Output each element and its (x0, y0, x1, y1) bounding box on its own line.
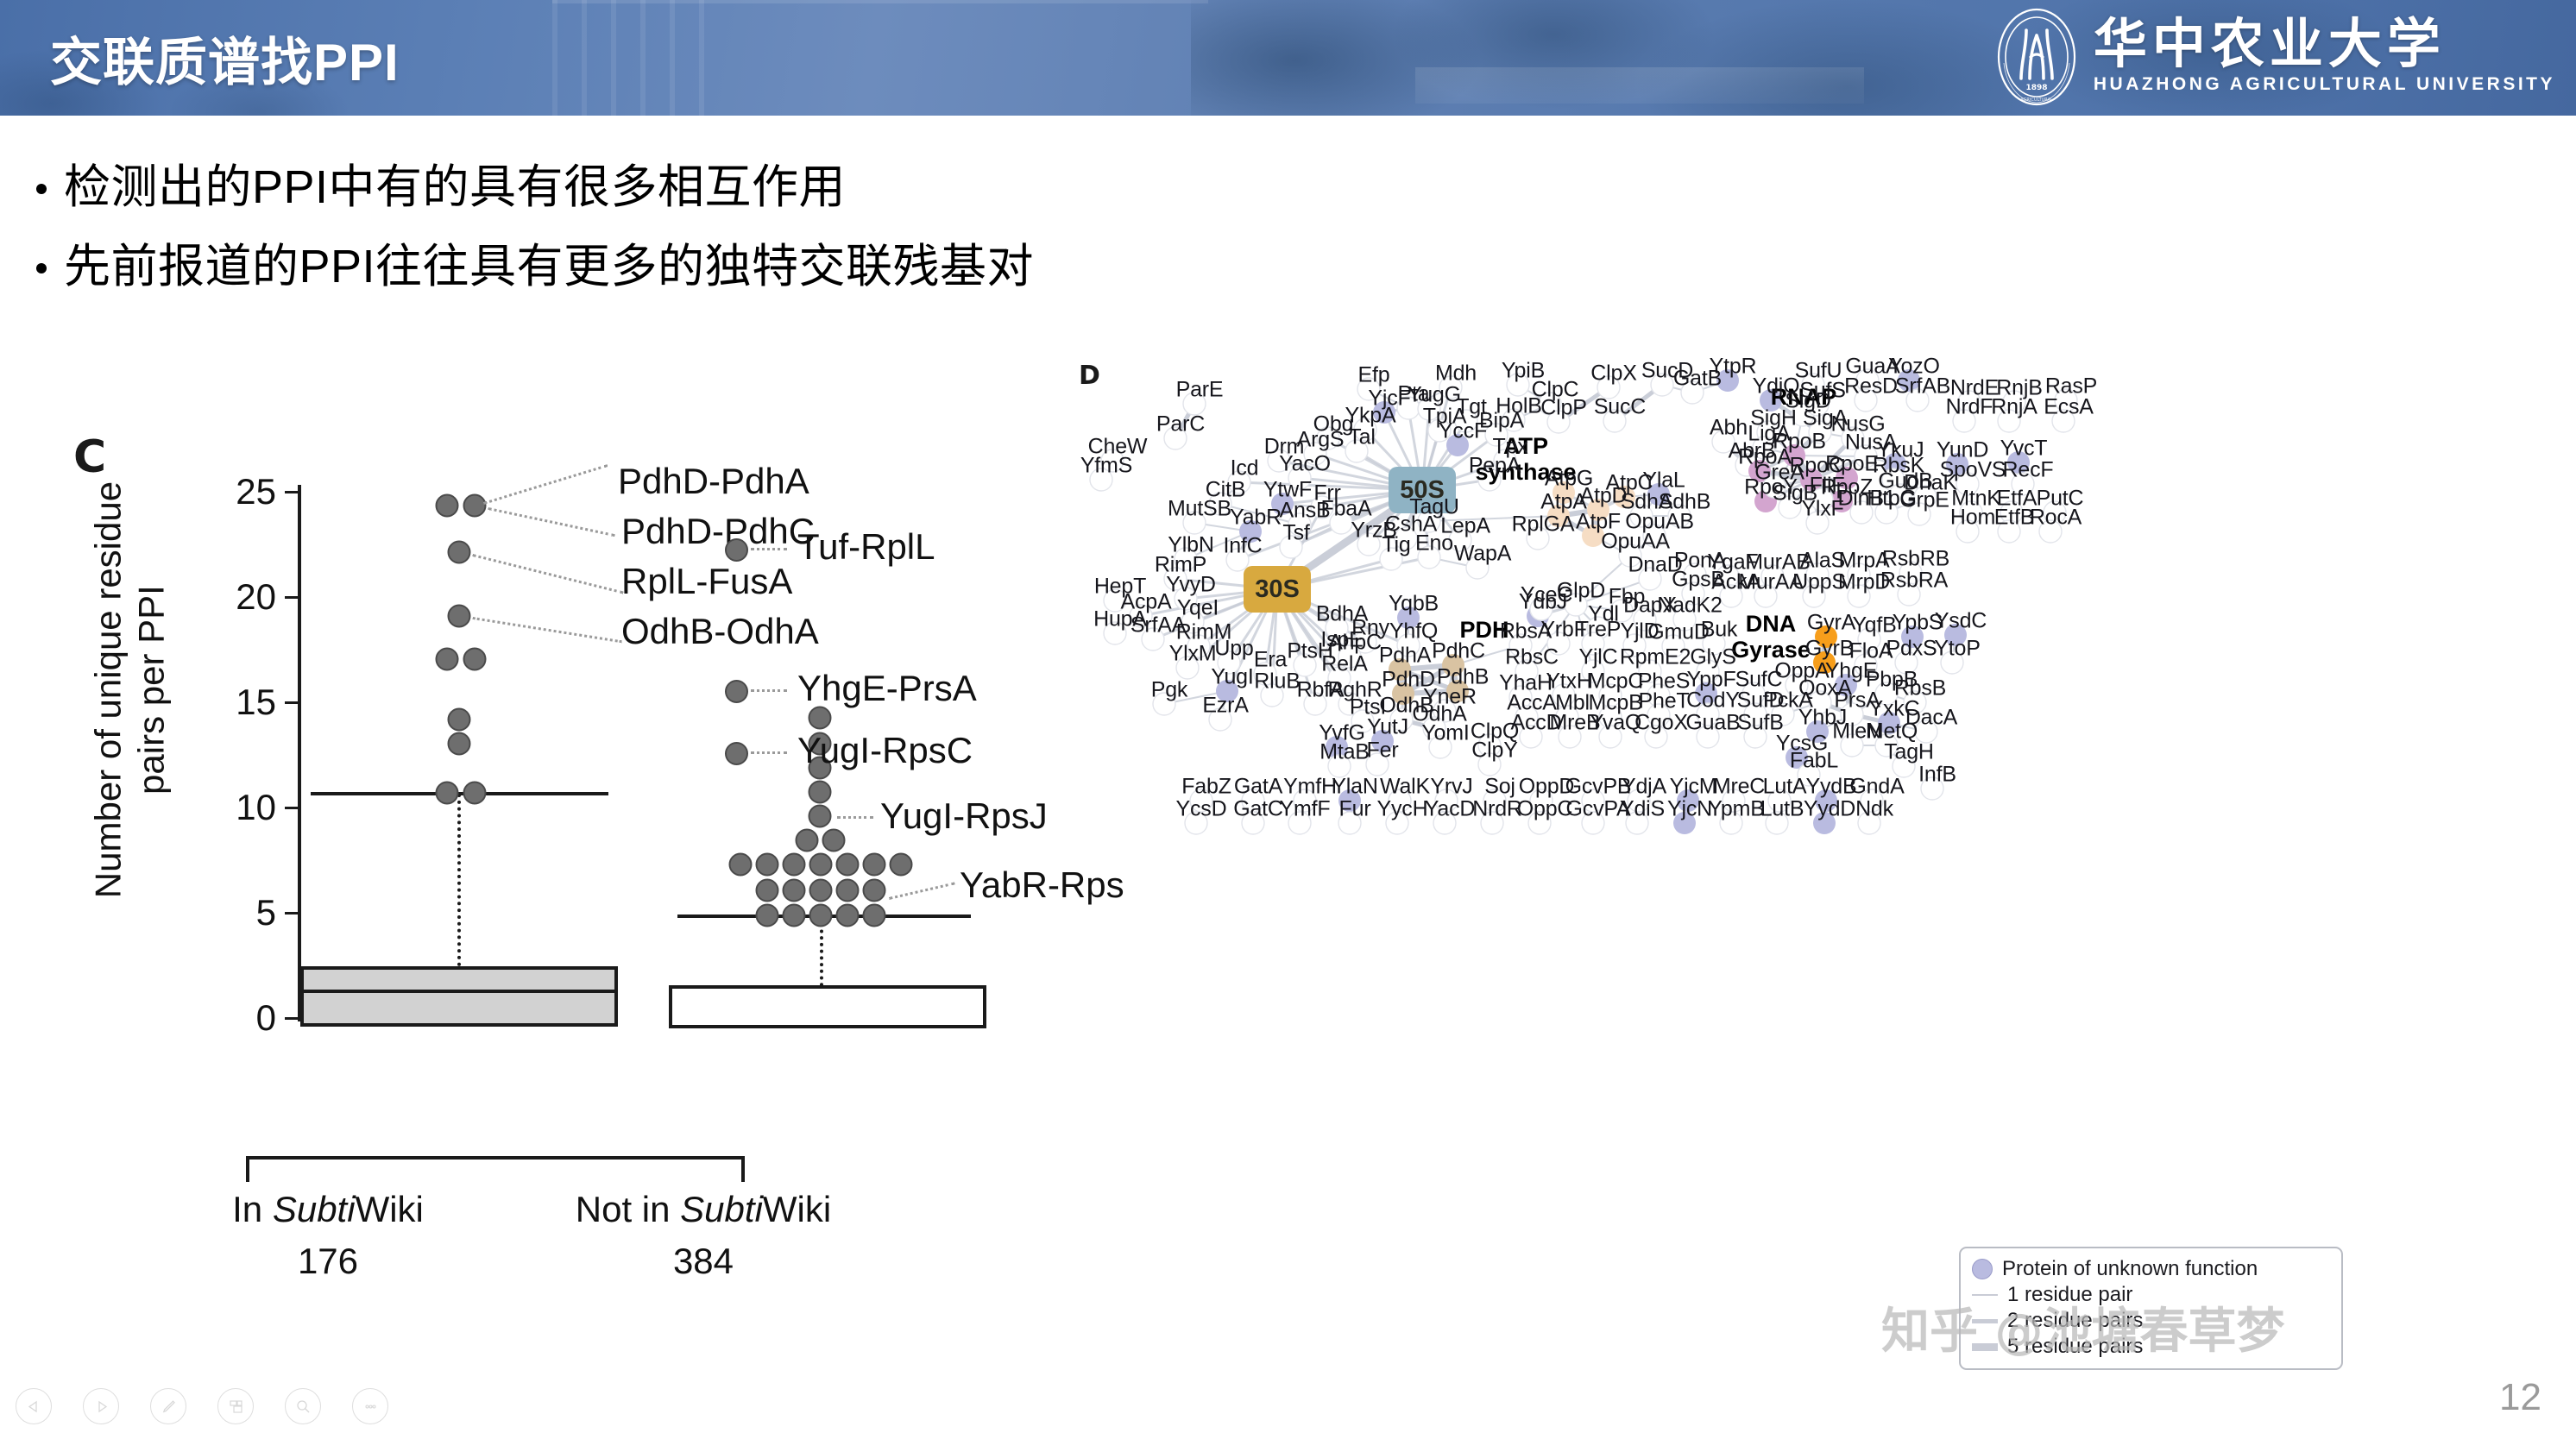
outlier-dot (809, 904, 833, 927)
upper-whisker-cap-group1 (311, 792, 608, 795)
callout-label: YugI-RpsC (797, 730, 973, 771)
callout-leader (751, 751, 787, 754)
hub-30s-label: 30S (1255, 575, 1300, 604)
outlier-dot (836, 904, 860, 927)
next-slide-button[interactable] (83, 1388, 119, 1424)
x-cat1-prefix: In (232, 1189, 273, 1229)
y-tick-label: 20 (198, 576, 276, 618)
callout-leader (472, 554, 623, 594)
outlier-dot (463, 648, 487, 671)
page-title: 交联质谱找PPI (50, 21, 400, 96)
y-tick-mark (285, 491, 299, 493)
magnifier-icon (295, 1398, 312, 1415)
outlier-dot (783, 853, 806, 877)
y-axis-label-line1: Number of unique residue (87, 481, 128, 898)
figure-panel-d: D 50S 30S ATP synthase RNAP PDH DNA Gyra… (1070, 345, 2576, 1346)
header-building-backdrop (552, 0, 1208, 116)
callout-dot (725, 680, 748, 703)
cluster-title-rnap: RNAP (1771, 384, 1837, 410)
hub-node-30s[interactable]: 30S (1244, 566, 1311, 613)
outlier-dot (809, 707, 832, 730)
outlier-dot (756, 853, 779, 877)
outlier-dot (756, 904, 779, 927)
y-tick-label: 10 (198, 787, 276, 828)
y-tick-label: 25 (198, 471, 276, 512)
x-cat2-prefix: Not in (576, 1189, 680, 1229)
x-axis-category-1: In SubtiWiki 176 (173, 1189, 483, 1282)
callout-leader (837, 816, 873, 819)
box-group2 (669, 985, 986, 1028)
callout-leader (483, 464, 608, 505)
y-tick-mark (285, 912, 299, 914)
logo-name-en: HUAZHONG AGRICULTURAL UNIVERSITY (2094, 74, 2555, 95)
prev-slide-button[interactable] (16, 1388, 52, 1424)
y-tick-mark (285, 807, 299, 809)
ppi-network-graph (1070, 345, 2576, 1346)
legend-label: Protein of unknown function (2002, 1257, 2258, 1281)
presenter-toolbar (16, 1388, 388, 1424)
outlier-dot (809, 853, 833, 877)
outlier-dot (890, 853, 913, 877)
cluster-title-atp-synthase: ATP synthase (1475, 433, 1576, 485)
callout-dot (725, 742, 748, 765)
triangle-right-icon (95, 1400, 108, 1413)
slide-overview-button[interactable] (217, 1388, 254, 1424)
outlier-dot (809, 781, 832, 804)
triangle-left-icon (28, 1400, 41, 1413)
callout-label: PdhD-PdhC (621, 511, 815, 552)
x-cat1-italic: Subti (273, 1189, 356, 1229)
callout-leader (473, 617, 622, 643)
outlier-dot (448, 605, 471, 628)
slide-header-banner: 交联质谱找PPI 1898 AGRICULTURAL 华中农业大学 HUAZHO… (0, 0, 2576, 116)
outlier-dot (436, 494, 459, 518)
bullet-text: 检测出的PPI中有的具有很多相互作用 (64, 160, 846, 217)
whisker-upper-group1 (457, 794, 461, 966)
bullet-dot-icon (36, 263, 47, 273)
outlier-dot (436, 648, 459, 671)
outlier-dot (448, 708, 471, 732)
callout-leader (488, 507, 614, 537)
panel-c-y-axis-label: Number of unique residue pairs per PPI (86, 466, 172, 914)
x-cat2-italic: Subti (680, 1189, 763, 1229)
callout-label: YugI-RpsJ (880, 795, 1048, 837)
outlier-dot (822, 829, 846, 852)
callout-leader (751, 689, 787, 692)
outlier-dot (809, 805, 832, 828)
boxplot-plot-area: 25 20 15 10 5 0 PdhD-PdhA PdhD-PdhC RplL (198, 485, 1061, 1046)
outlier-dot (863, 904, 886, 927)
cluster-title-dna-gyrase: DNA Gyrase (1731, 611, 1811, 663)
hub-node-50s[interactable]: 50S (1389, 467, 1456, 513)
y-tick-mark (285, 596, 299, 599)
ellipsis-icon (362, 1398, 379, 1415)
cluster-title-pdh: PDH (1459, 617, 1508, 643)
unknown-protein-node-icon (1972, 1259, 1993, 1279)
y-tick-label: 15 (198, 682, 276, 723)
callout-label: OdhB-OdhA (621, 611, 819, 652)
outlier-dot (783, 904, 806, 927)
y-axis-label-line2: pairs per PPI (130, 585, 171, 795)
bullet-dot-icon (36, 184, 47, 194)
svg-text:1898: 1898 (2025, 84, 2047, 92)
logo-name-cn: 华中农业大学 (2094, 19, 2446, 70)
pen-tool-button[interactable] (150, 1388, 186, 1424)
outlier-dot (729, 853, 753, 877)
x-cat1-suffix: Wiki (356, 1189, 424, 1229)
bullet-list: 检测出的PPI中有的具有很多相互作用 先前报道的PPI往往具有更多的独特交联残基… (36, 160, 1503, 318)
y-tick-mark (285, 701, 299, 704)
list-item: 先前报道的PPI往往具有更多的独特交联残基对 (36, 239, 1503, 296)
hzau-seal-icon: 1898 AGRICULTURAL (1992, 6, 2082, 108)
outlier-dot (863, 853, 886, 877)
callout-leader (751, 548, 787, 550)
callout-label: PdhD-PdhA (618, 461, 809, 502)
x-cat2-suffix: Wiki (763, 1189, 831, 1229)
page-number: 12 (2499, 1376, 2541, 1419)
hub-50s-label: 50S (1400, 476, 1445, 505)
box-group1 (300, 966, 618, 1027)
outlier-dot (463, 494, 487, 518)
x-axis-bracket (246, 1156, 745, 1182)
svg-text:AGRICULTURAL: AGRICULTURAL (2020, 97, 2053, 103)
zoom-tool-button[interactable] (285, 1388, 321, 1424)
outlier-dot (436, 782, 459, 805)
x-cat2-count: 384 (518, 1241, 889, 1282)
callout-label: RplL-FusA (621, 561, 792, 602)
outlier-dot (448, 541, 471, 564)
outlier-dot (463, 782, 487, 805)
callout-label: YhgE-PrsA (797, 668, 977, 709)
y-tick-label: 0 (198, 997, 276, 1039)
bullet-text: 先前报道的PPI往往具有更多的独特交联残基对 (64, 239, 1034, 296)
outlier-dot (836, 853, 860, 877)
more-options-button[interactable] (352, 1388, 388, 1424)
x-axis-category-2: Not in SubtiWiki 384 (518, 1189, 889, 1282)
figure-panel-c: C Number of unique residue pairs per PPI… (35, 405, 1079, 1277)
callout-label: Tuf-RplL (797, 526, 935, 568)
y-tick-mark (285, 1017, 299, 1020)
outlier-dot (756, 879, 779, 902)
list-item: 检测出的PPI中有的具有很多相互作用 (36, 160, 1503, 217)
legend-item-unknown-protein: Protein of unknown function (1972, 1256, 2330, 1282)
outlier-dot (796, 829, 819, 852)
outlier-dot (448, 732, 471, 756)
zhihu-watermark: 知乎 @池塘春草梦 (1881, 1292, 2285, 1362)
university-logo: 1898 AGRICULTURAL 华中农业大学 HUAZHONG AGRICU… (1992, 5, 2555, 109)
x-cat1-count: 176 (173, 1241, 483, 1282)
outlier-dot (783, 879, 806, 902)
y-tick-label: 5 (198, 892, 276, 933)
outlier-dot (863, 879, 886, 902)
outlier-dot (809, 879, 833, 902)
y-axis-line (298, 485, 301, 1021)
callout-dot (725, 538, 748, 562)
median-line-group1 (300, 990, 614, 993)
grid-slides-icon (228, 1398, 244, 1415)
pen-icon (161, 1398, 177, 1415)
callout-leader (889, 882, 955, 899)
outlier-dot (836, 879, 860, 902)
